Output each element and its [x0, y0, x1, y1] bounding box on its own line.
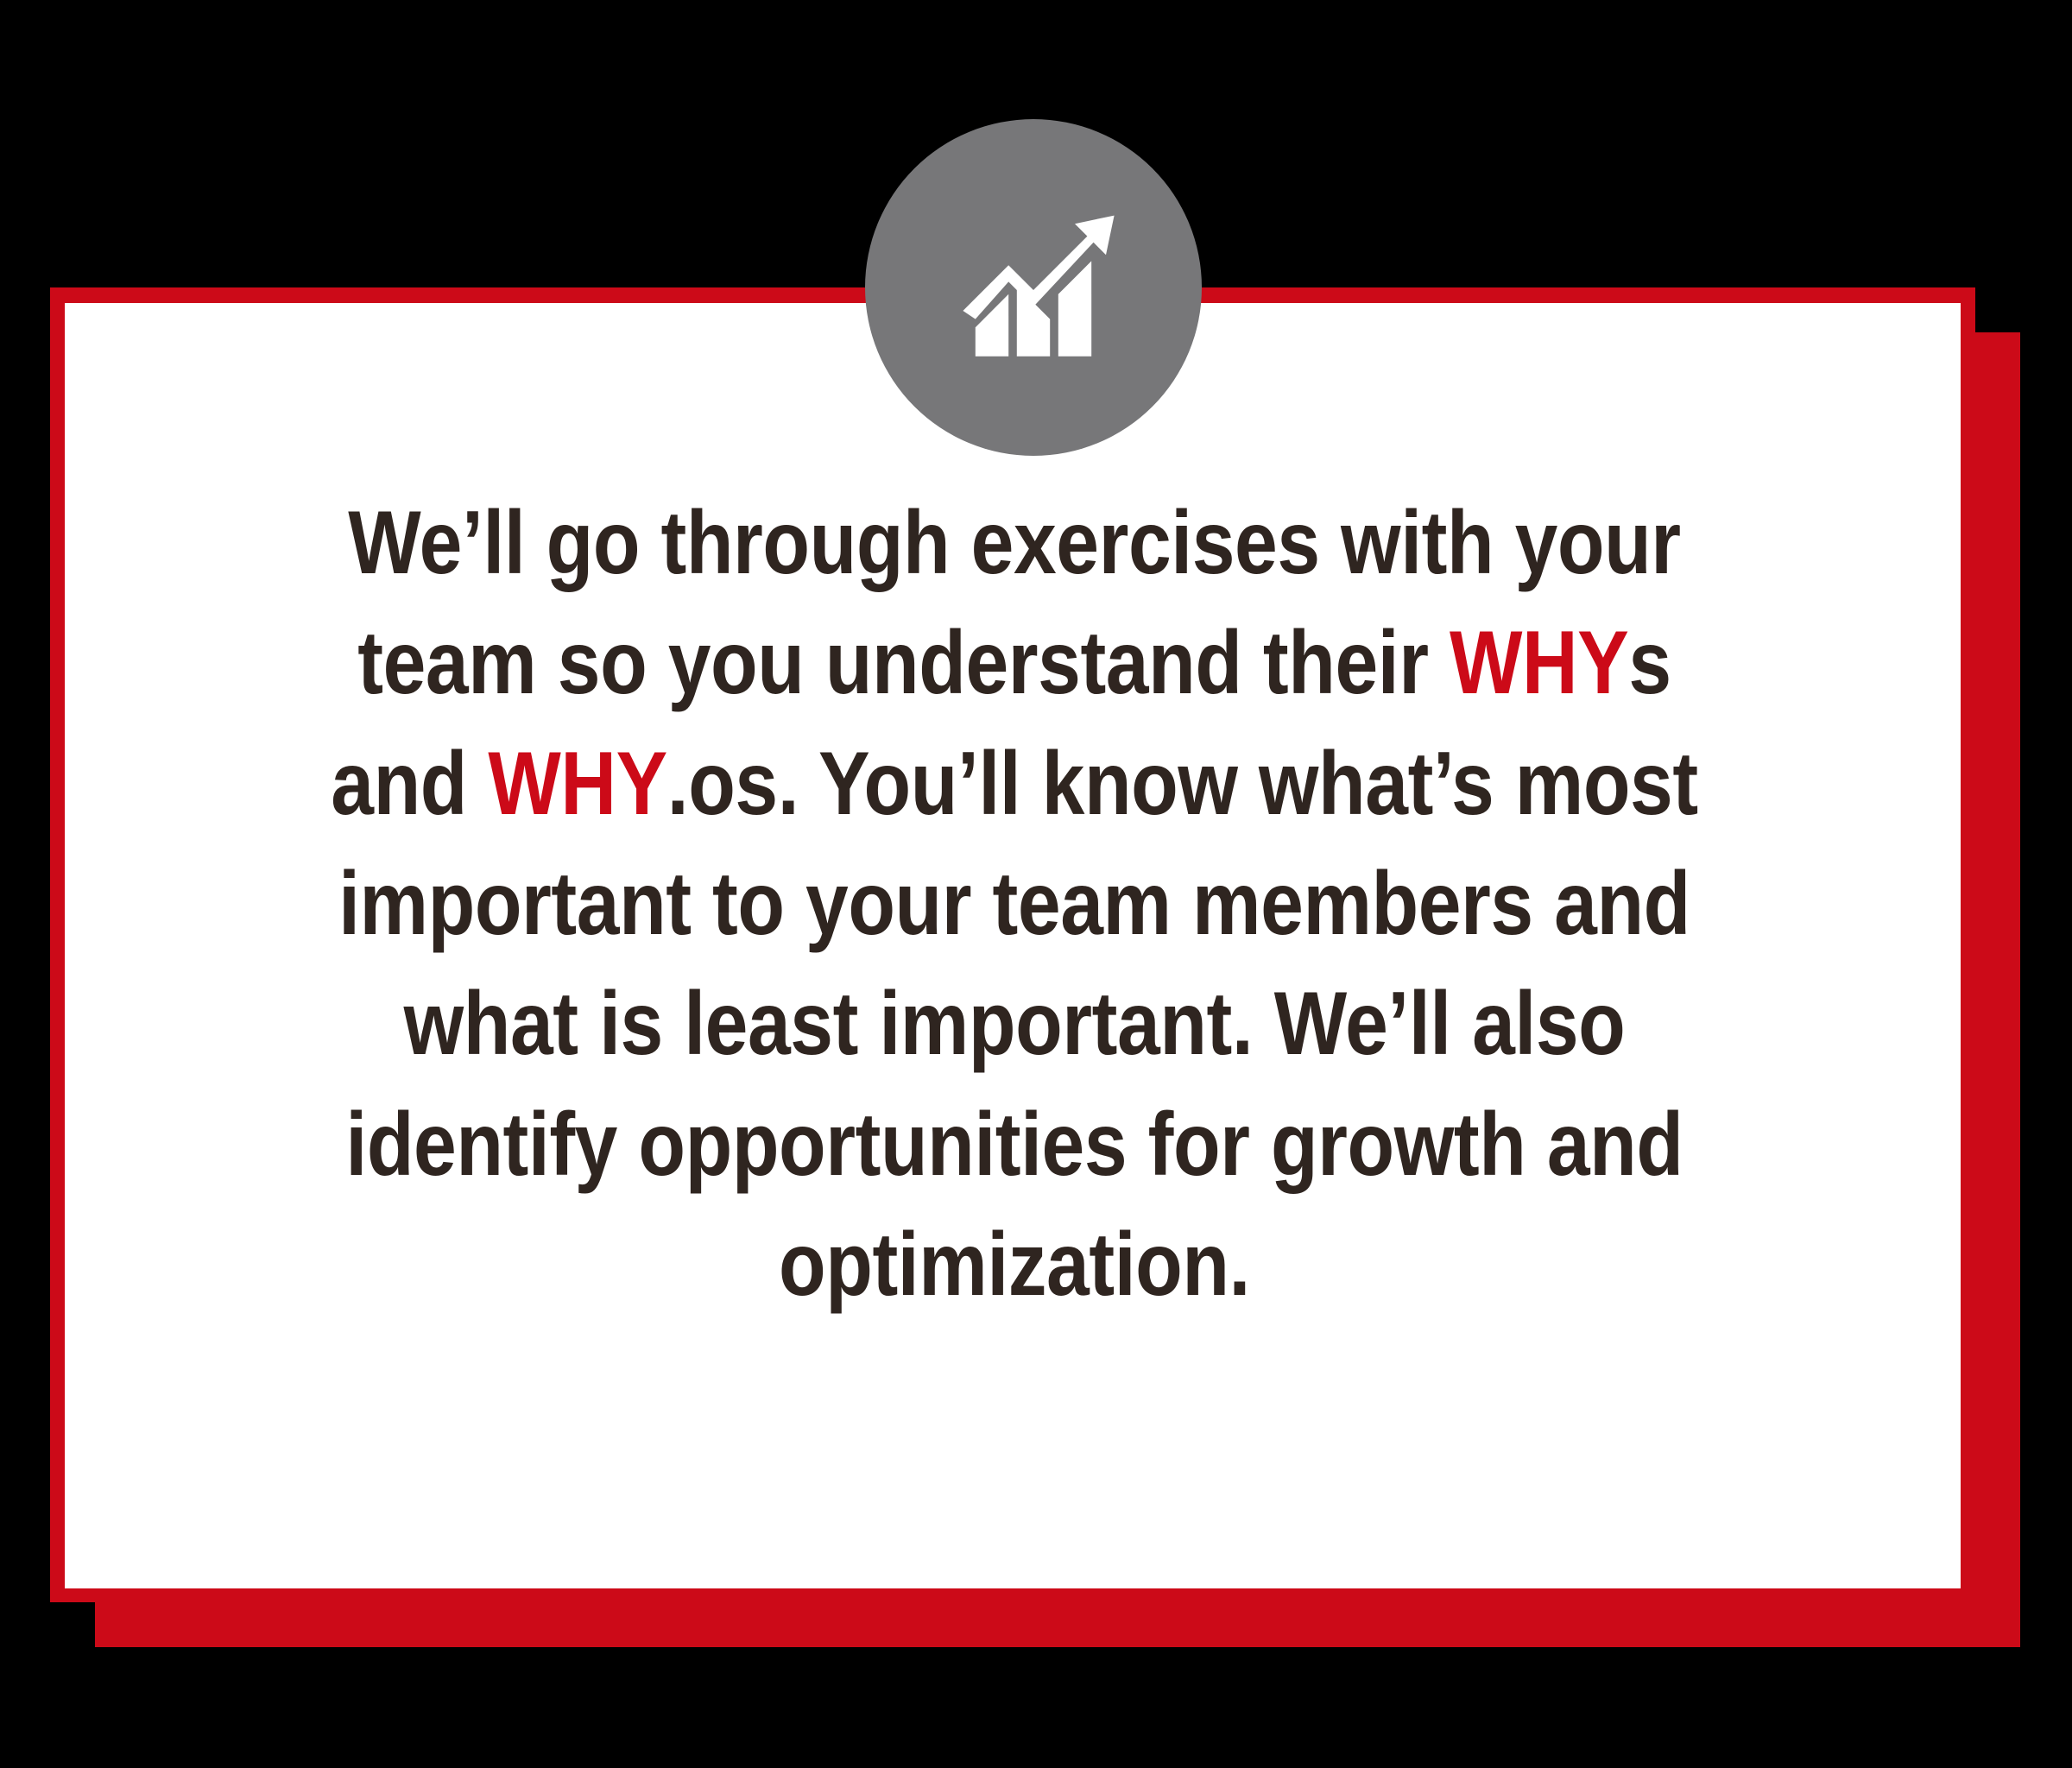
slide-canvas: We’ll go through exercises with your tea… — [0, 0, 2072, 1768]
bar-chart-growth-arrow-icon — [865, 119, 1202, 456]
body-paragraph: We’ll go through exercises with your tea… — [283, 483, 1746, 1326]
paragraph-text: We’ll go through exercises with your tea… — [283, 483, 1746, 1326]
text-highlight-why-1: WHY — [1450, 613, 1628, 713]
bar-chart-growth-arrow-glyph — [930, 186, 1137, 394]
text-highlight-why-2: WHY — [488, 734, 666, 834]
